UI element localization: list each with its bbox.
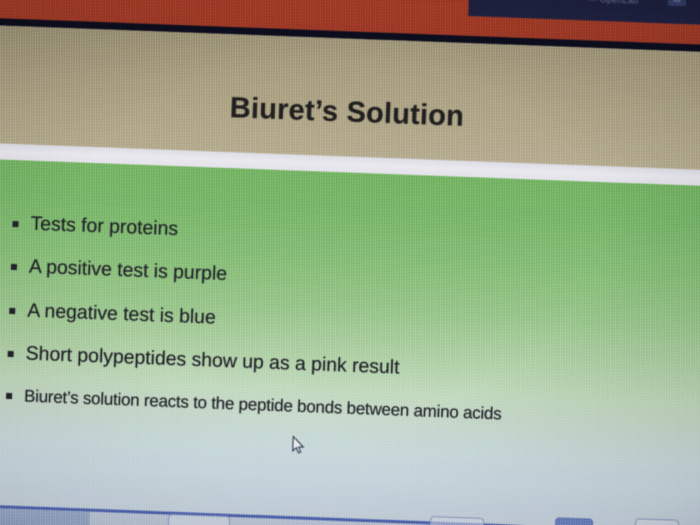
mouse-cursor-icon — [292, 436, 306, 454]
square-bullet-icon — [6, 393, 12, 399]
presentation-slide[interactable]: Biuret’s Solution Tests for proteins A p… — [0, 24, 700, 525]
square-bullet-icon — [9, 308, 15, 314]
bottom-tab-4[interactable] — [635, 518, 680, 525]
bullet-item: Biuret’s solution reacts to the peptide … — [6, 386, 700, 432]
bullet-item: A negative test is blue — [9, 299, 700, 348]
square-bullet-icon — [12, 221, 18, 227]
bullet-item: A positive test is purple — [11, 255, 700, 304]
bottom-tab-2[interactable] — [430, 516, 485, 525]
screenshot-root: — OpenLab Ktr Biuret’s Solution Tests fo… — [0, 0, 700, 525]
bottom-tab-3-active[interactable] — [555, 517, 594, 525]
bottom-tab-1[interactable] — [168, 514, 231, 525]
bullet-text: Tests for proteins — [30, 213, 178, 241]
bullet-text: A negative test is blue — [27, 299, 216, 328]
bullet-text: A positive test is purple — [28, 256, 227, 286]
slide-viewport: Biuret’s Solution Tests for proteins A p… — [0, 24, 700, 525]
square-bullet-icon — [11, 264, 17, 270]
bullet-text: Biuret’s solution reacts to the peptide … — [24, 386, 502, 423]
slide-bullet-list: Tests for proteins A positive test is pu… — [5, 212, 700, 452]
bullet-text: Short polypeptides show up as a pink res… — [25, 343, 400, 379]
bullet-item: Short polypeptides show up as a pink res… — [7, 342, 700, 391]
square-bullet-icon — [8, 351, 14, 357]
taskbar-badge[interactable]: Ktr — [668, 0, 686, 6]
